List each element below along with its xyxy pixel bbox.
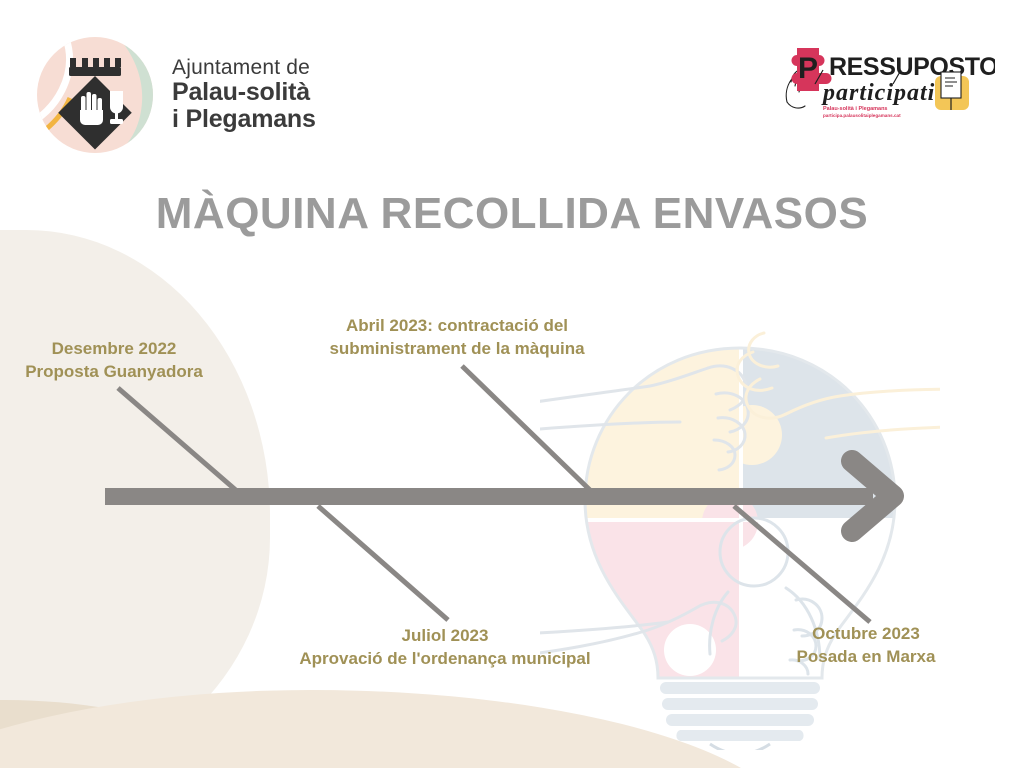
milestone-date: Desembre 2022	[14, 338, 214, 361]
milestone-date: Juliol 2023	[286, 625, 604, 648]
milestone-label-desembre-2022: Desembre 2022 Proposta Guanyadora	[14, 338, 214, 384]
milestone-date: Octubre 2023	[776, 623, 956, 646]
connector-desembre-2022	[118, 388, 238, 492]
milestone-desc: Posada en Marxa	[776, 646, 956, 669]
milestone-date: Abril 2023: contractació del	[312, 315, 602, 338]
connector-abril-2023	[462, 366, 592, 492]
milestone-label-abril-2023: Abril 2023: contractació del subministra…	[312, 315, 602, 361]
connector-juliol-2023	[318, 506, 448, 620]
milestone-desc: subministrament de la màquina	[312, 338, 602, 361]
timeline: Desembre 2022 Proposta Guanyadora Abril …	[0, 0, 1024, 768]
milestone-label-juliol-2023: Juliol 2023 Aprovació de l'ordenança mun…	[286, 625, 604, 671]
milestone-label-octubre-2023: Octubre 2023 Posada en Marxa	[776, 623, 956, 669]
milestone-desc: Proposta Guanyadora	[14, 361, 214, 384]
timeline-arrow-shaft	[105, 488, 873, 505]
milestone-desc: Aprovació de l'ordenança municipal	[286, 648, 604, 671]
slide-canvas: Ajuntament de Palau-solità i Plegamans P…	[0, 0, 1024, 768]
